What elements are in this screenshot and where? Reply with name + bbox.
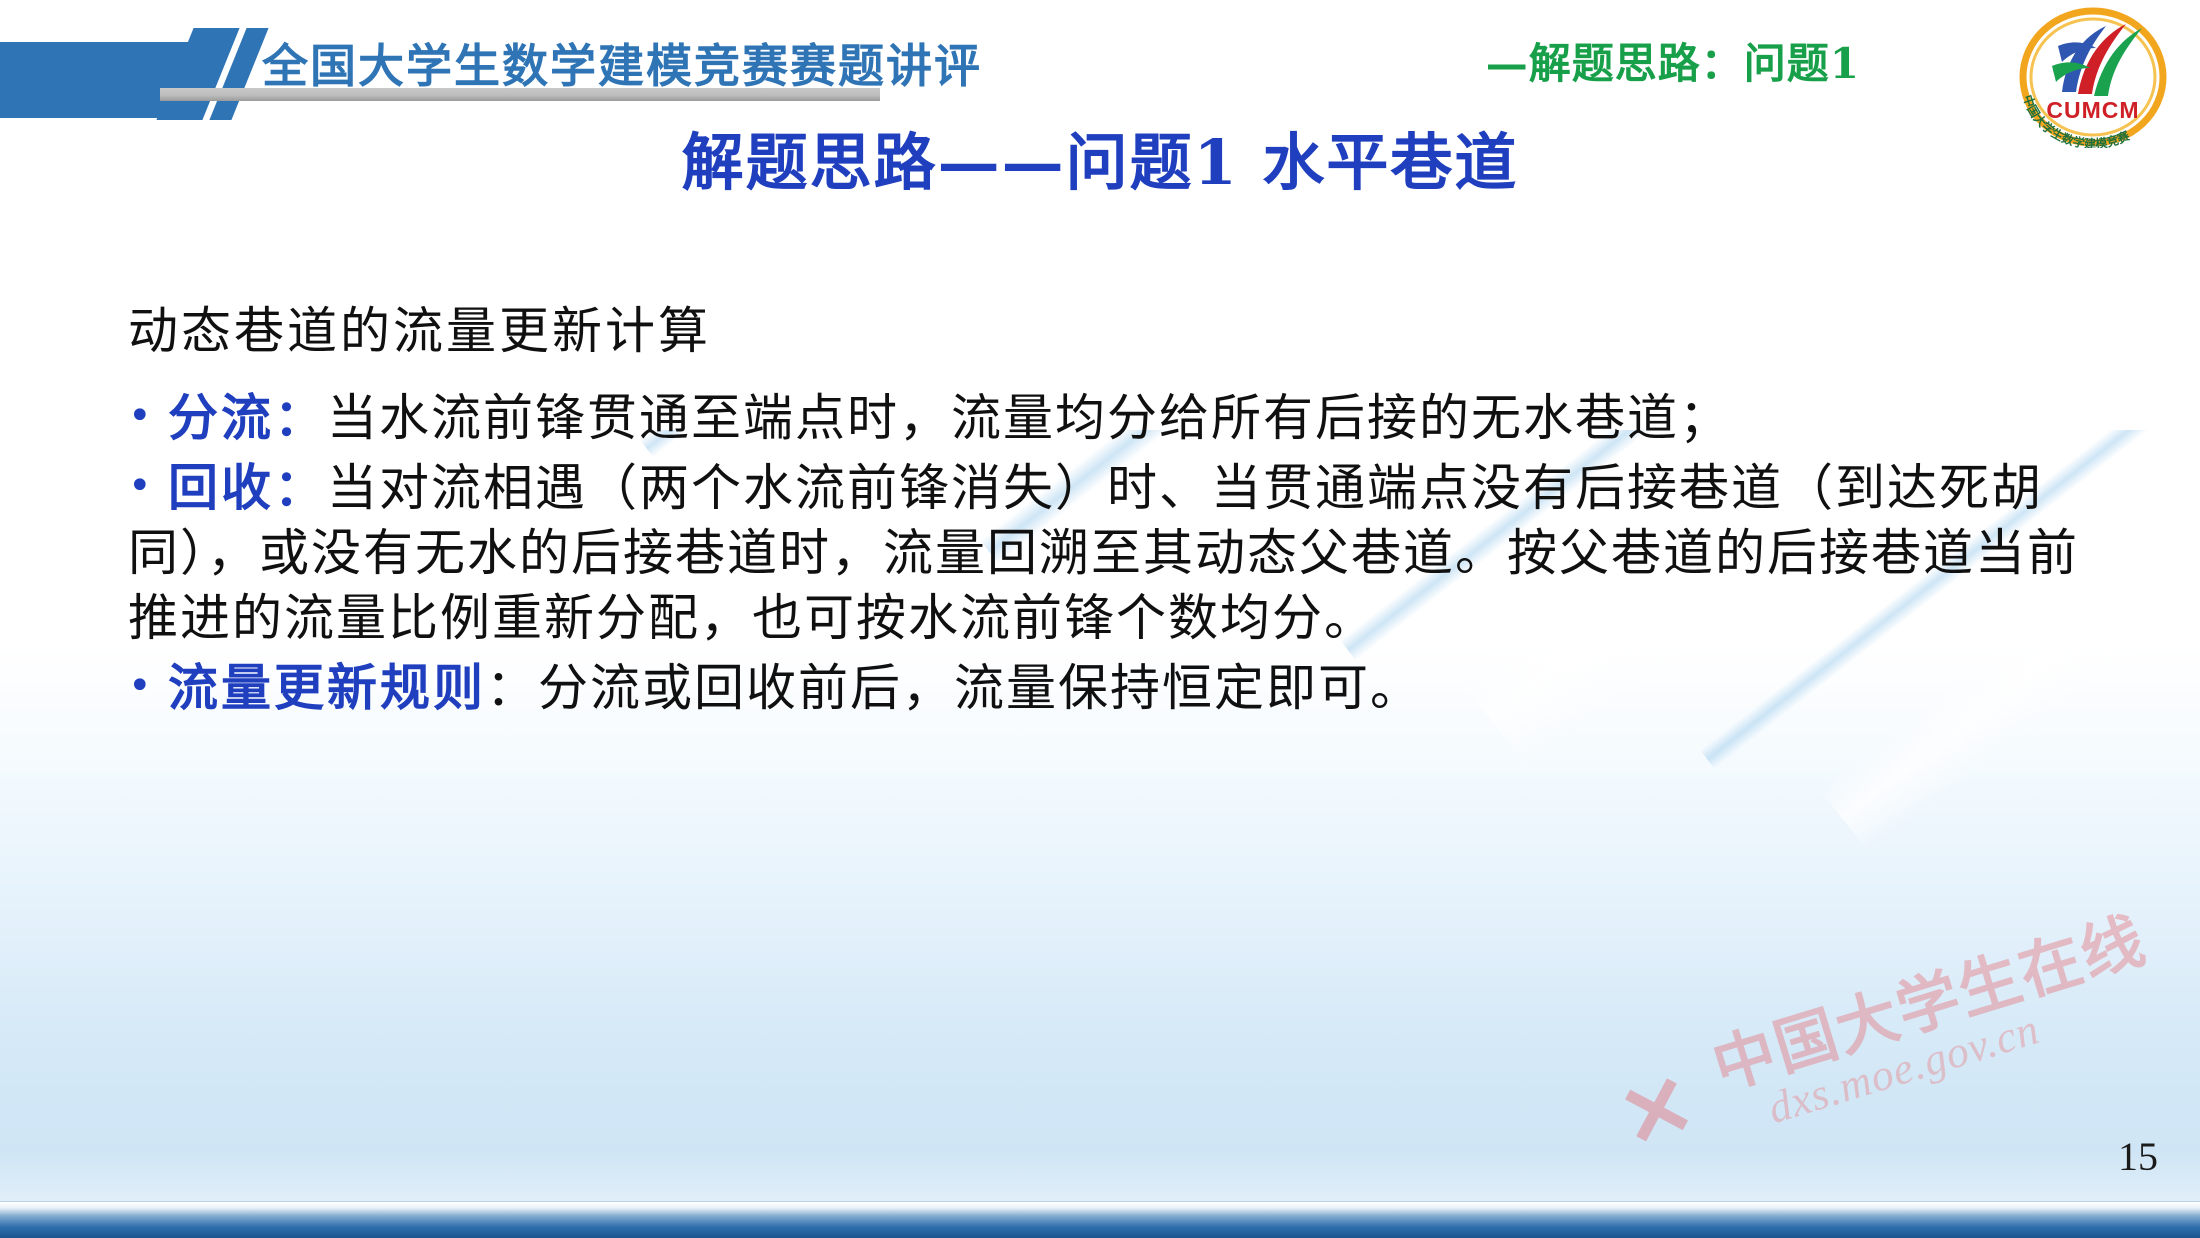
header-title: 全国大学生数学建模竞赛赛题讲评: [262, 30, 982, 96]
bullet-dot-icon: •: [128, 390, 168, 442]
bullet-text-1: 当水流前锋贯通至端点时，流量均分给所有后接的无水巷道；: [327, 389, 1731, 447]
bullet-keyword-3: 流量更新规则: [168, 658, 486, 717]
bullet-text-3: ：分流或回收前后，流量保持恒定即可。: [486, 659, 1422, 717]
page-title: 解题思路——问题1 水平巷道: [0, 112, 2200, 202]
bullet-item-1: •分流：当水流前锋贯通至端点时，流量均分给所有后接的无水巷道；: [128, 385, 2118, 451]
page-number: 15: [2118, 1133, 2158, 1180]
bullet-dot-icon: •: [128, 460, 168, 512]
bullet-item-3: •流量更新规则：分流或回收前后，流量保持恒定即可。: [128, 655, 2118, 721]
bullet-keyword-1: 分流：: [168, 388, 327, 447]
bullet-dot-icon: •: [128, 660, 168, 712]
bullet-text-2: 当对流相遇（两个水流前锋消失）时、当贯通端点没有后接巷道（到达死胡同），或没有无…: [128, 459, 2079, 647]
slide-canvas: 全国大学生数学建模竞赛赛题讲评 —解题思路：问题1 CUMCM 中国大学生数学建…: [0, 0, 2200, 1238]
bullet-item-2: •回收：当对流相遇（两个水流前锋消失）时、当贯通端点没有后接巷道（到达死胡同），…: [128, 455, 2118, 651]
lead-line: 动态巷道的流量更新计算: [128, 300, 2118, 363]
bullet-keyword-2: 回收：: [168, 458, 327, 517]
slide-body: 动态巷道的流量更新计算 •分流：当水流前锋贯通至端点时，流量均分给所有后接的无水…: [128, 300, 2118, 725]
header-subtitle: —解题思路：问题1: [1486, 30, 1860, 91]
footer-bar: [0, 1202, 2200, 1238]
